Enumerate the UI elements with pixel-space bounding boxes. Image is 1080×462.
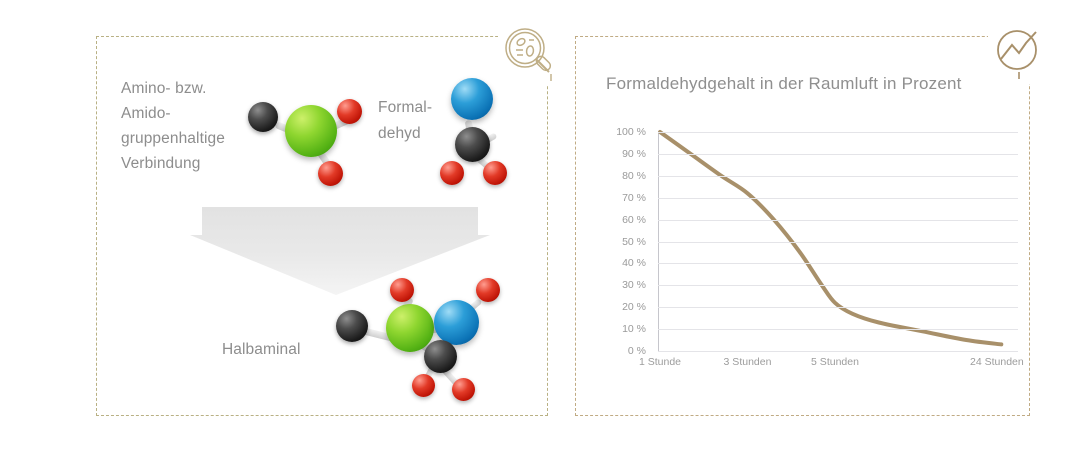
carbon-atom-black xyxy=(248,102,278,132)
x-axis-tick: 5 Stunden xyxy=(811,356,859,368)
carbon-atom-black xyxy=(455,127,490,162)
center-atom-green xyxy=(386,304,434,352)
x-axis-tick: 1 Stunde xyxy=(639,356,681,368)
oxygen-atom-red xyxy=(483,161,507,185)
oxygen-atom-red xyxy=(318,161,343,186)
y-axis-tick: 90 % xyxy=(602,148,646,160)
oxygen-atom-red xyxy=(337,99,362,124)
screenshot-canvas: Amino- bzw. Amido- gruppenhaltige Verbin… xyxy=(0,0,1080,462)
oxygen-atom-red xyxy=(476,278,500,302)
chart-gridline xyxy=(658,176,1018,177)
y-axis-tick: 60 % xyxy=(602,214,646,226)
y-axis-labels: 100 %90 %80 %70 %60 %50 %40 %30 %20 %10 … xyxy=(600,120,646,380)
chart-gridline xyxy=(658,329,1018,330)
magnifier-icon xyxy=(498,22,562,86)
chart-series-line xyxy=(660,132,1001,344)
y-axis-tick: 50 % xyxy=(602,236,646,248)
chart-plot-area: 1 Stunde3 Stunden5 Stunden24 Stunden xyxy=(658,120,1018,380)
chart-gridline xyxy=(658,220,1018,221)
nitrogen-atom-blue xyxy=(451,78,493,120)
x-axis-tick: 24 Stunden xyxy=(970,356,1024,368)
center-atom-green xyxy=(285,105,337,157)
chart-gridline xyxy=(658,351,1018,352)
carbon-atom-black xyxy=(336,310,368,342)
chart-line-series xyxy=(658,120,1018,380)
line-chart: 100 %90 %80 %70 %60 %50 %40 %30 %20 %10 … xyxy=(600,120,1020,380)
chart-title: Formaldehydgehalt in der Raumluft in Pro… xyxy=(606,74,962,94)
chart-gridline xyxy=(658,132,1018,133)
oxygen-atom-red xyxy=(412,374,435,397)
halbaminal-molecule xyxy=(328,278,508,400)
y-axis-tick: 40 % xyxy=(602,257,646,269)
chart-gridline xyxy=(658,307,1018,308)
oxygen-atom-red xyxy=(440,161,464,185)
y-axis-tick: 80 % xyxy=(602,170,646,182)
oxygen-atom-red xyxy=(452,378,475,401)
y-axis-tick: 20 % xyxy=(602,301,646,313)
nitrogen-atom-blue xyxy=(434,300,479,345)
y-axis-tick: 10 % xyxy=(602,323,646,335)
formaldehyde-molecule xyxy=(440,75,540,185)
amino-compound-molecule xyxy=(240,85,370,195)
chart-gridline xyxy=(658,285,1018,286)
carbon-atom-black xyxy=(424,340,457,373)
y-axis-tick: 100 % xyxy=(602,126,646,138)
oxygen-atom-red xyxy=(390,278,414,302)
chart-gridline xyxy=(658,242,1018,243)
y-axis-tick: 70 % xyxy=(602,192,646,204)
chart-gridline xyxy=(658,154,1018,155)
trend-chart-icon xyxy=(988,20,1052,84)
chart-gridline xyxy=(658,263,1018,264)
x-axis-tick: 3 Stunden xyxy=(724,356,772,368)
y-axis-tick: 30 % xyxy=(602,279,646,291)
chart-gridline xyxy=(658,198,1018,199)
